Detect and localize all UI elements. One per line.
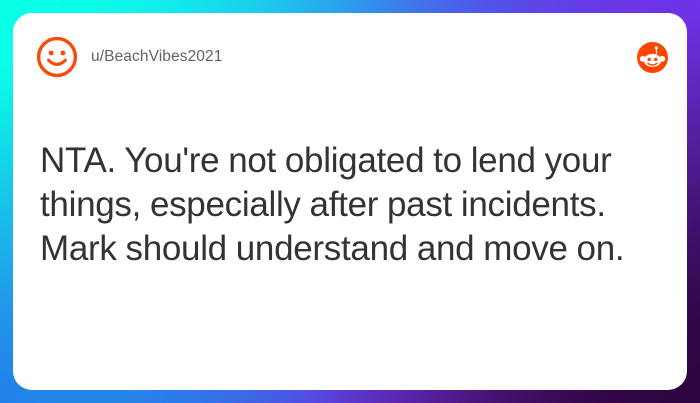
post-body-line: NTA. You're not obligated to lend your [40, 139, 660, 183]
post-header: u/BeachVibes2021 [13, 13, 687, 101]
reddit-snoo-icon[interactable] [637, 42, 668, 73]
post-body-line: things, especially after past incidents. [40, 183, 660, 227]
smiley-face-icon[interactable] [36, 36, 78, 78]
screenshot-canvas: u/BeachVibes2021 [0, 0, 700, 403]
post-body-text: NTA. You're not obligated to lend your t… [40, 139, 660, 271]
username-label: u/BeachVibes2021 [91, 48, 222, 66]
post-body-line: Mark should understand and move on. [40, 227, 660, 271]
reddit-post-card: u/BeachVibes2021 [13, 13, 687, 390]
